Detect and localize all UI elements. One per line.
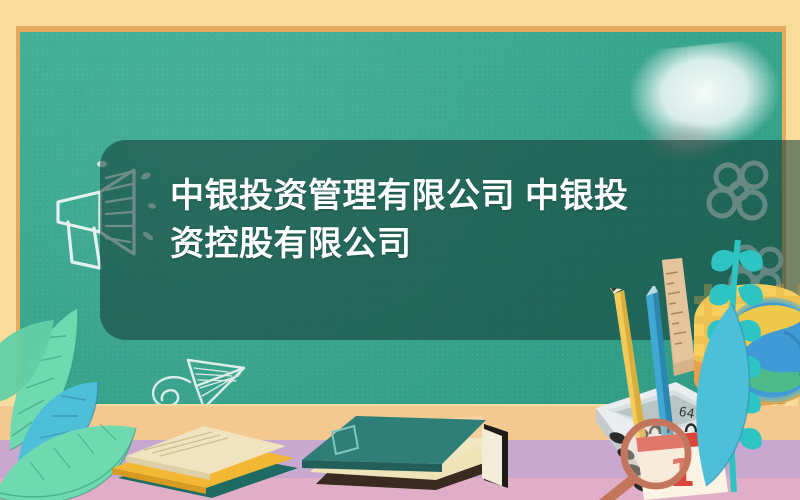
stacked-books-center <box>286 402 516 500</box>
foreground-leaf-right <box>680 300 800 500</box>
foreground-leaf-left <box>0 414 144 500</box>
poster-canvas: 中银投资管理有限公司 中银投资控股有限公司 <box>0 0 800 500</box>
page-title: 中银投资管理有限公司 中银投资控股有限公司 <box>170 172 640 268</box>
